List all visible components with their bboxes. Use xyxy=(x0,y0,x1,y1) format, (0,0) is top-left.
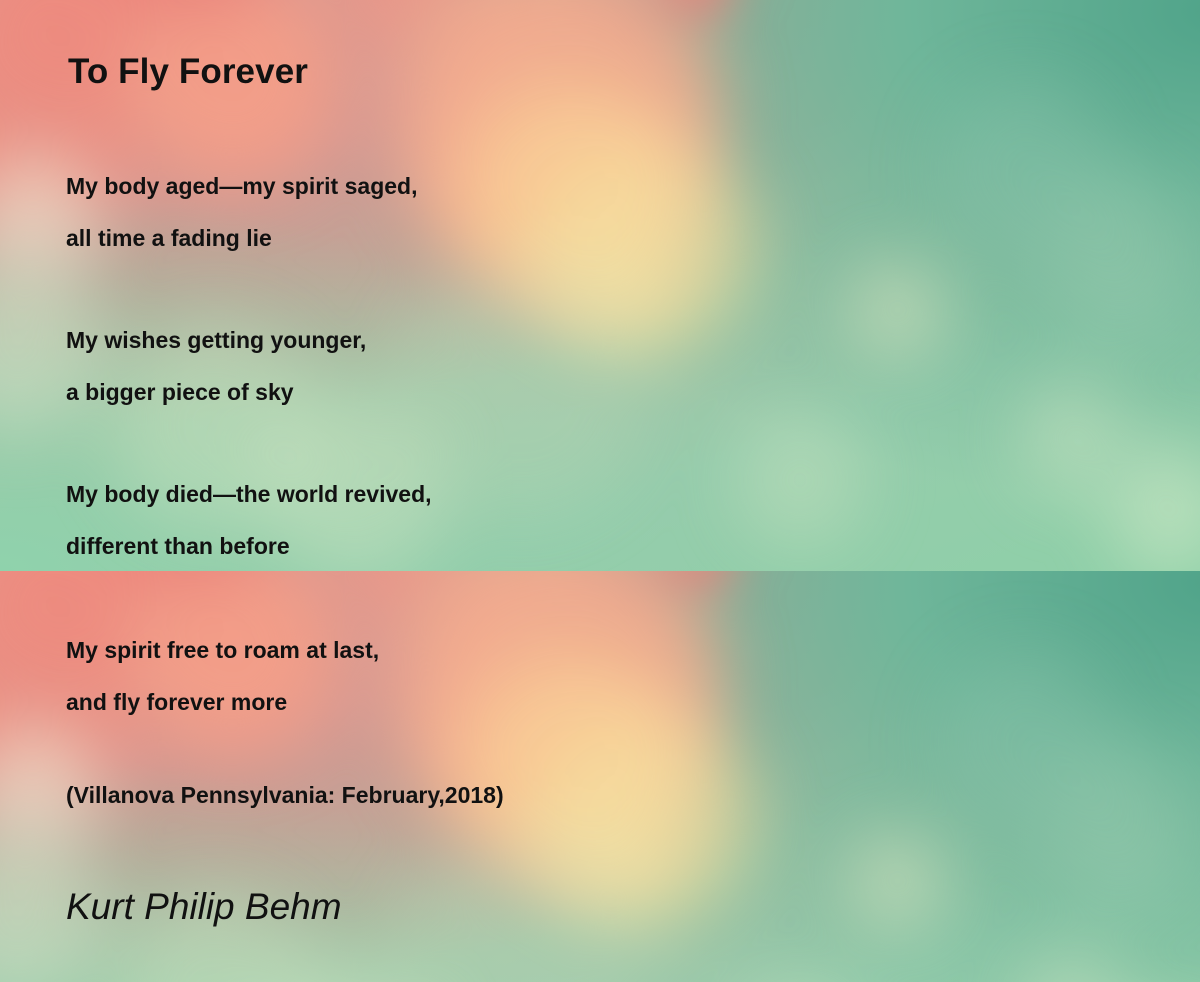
poem-line: My body aged—my spirit saged, xyxy=(66,160,417,212)
poem-stanza: My spirit free to roam at last, and fly … xyxy=(66,624,379,728)
poem-line: My wishes getting younger, xyxy=(66,314,366,366)
poem-image-card: To Fly Forever My body aged—my spirit sa… xyxy=(0,0,1200,982)
poem-line: and fly forever more xyxy=(66,676,379,728)
poem-text-overlay: To Fly Forever My body aged—my spirit sa… xyxy=(0,0,1200,982)
poem-line: a bigger piece of sky xyxy=(66,366,366,418)
page-title: To Fly Forever xyxy=(68,52,308,92)
poem-author: Kurt Philip Behm xyxy=(66,886,342,928)
poem-stanza: My wishes getting younger, a bigger piec… xyxy=(66,314,366,418)
poem-line: My spirit free to roam at last, xyxy=(66,624,379,676)
poem-line: different than before xyxy=(66,520,432,572)
poem-line: My body died—the world revived, xyxy=(66,468,432,520)
poem-stanza: My body aged—my spirit saged, all time a… xyxy=(66,160,417,264)
poem-line: all time a fading lie xyxy=(66,212,417,264)
poem-stanza: My body died—the world revived, differen… xyxy=(66,468,432,572)
poem-place-and-date: (Villanova Pennsylvania: February,2018) xyxy=(66,782,504,809)
